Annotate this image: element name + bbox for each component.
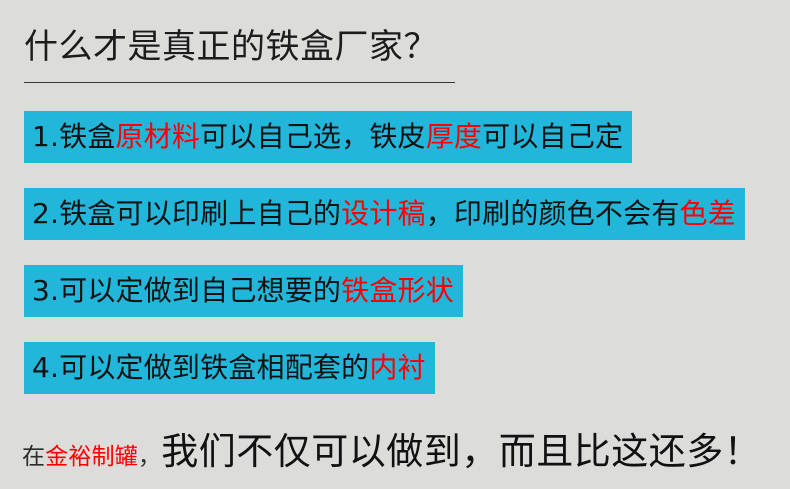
feature-1-segment-1: 1.铁盒 <box>32 120 116 153</box>
feature-4-segment-2: 内衬 <box>369 351 425 384</box>
feature-item-2: 2.铁盒可以印刷上自己的设计稿，印刷的颜色不会有色差 <box>24 188 745 240</box>
feature-2-segment-2: 设计稿 <box>341 197 426 230</box>
footer-brand-phrase: 在金裕制罐， <box>22 437 161 477</box>
feature-1-segment-3: 可以自己选，铁皮 <box>200 120 426 153</box>
title-divider <box>24 82 455 83</box>
feature-2-segment-1: 2.铁盒可以印刷上自己的 <box>32 197 341 230</box>
feature-4-segment-1: 4.可以定做到铁盒相配套的 <box>32 351 369 384</box>
feature-3-segment-1: 3.可以定做到自己想要的 <box>32 274 341 307</box>
feature-1-segment-2: 原材料 <box>116 120 201 153</box>
footer-tagline: 我们不仅可以做到，而且比这还多！ <box>161 430 761 474</box>
page-title: 什么才是真正的铁盒厂家？ <box>24 26 438 68</box>
page-title-block: 什么才是真正的铁盒厂家？ <box>24 26 438 68</box>
feature-3-segment-2: 铁盒形状 <box>341 274 454 307</box>
promo-banner: 什么才是真正的铁盒厂家？ 1.铁盒原材料可以自己选，铁皮厚度可以自己定 2.铁盒… <box>0 0 790 489</box>
footer-statement: 在金裕制罐， 我们不仅可以做到，而且比这还多！ <box>22 430 761 477</box>
feature-1-segment-4: 厚度 <box>426 120 482 153</box>
feature-2-segment-4: 色差 <box>680 197 736 230</box>
footer-prefix: 在 <box>22 444 45 470</box>
feature-item-3: 3.可以定做到自己想要的铁盒形状 <box>24 265 463 317</box>
feature-item-4: 4.可以定做到铁盒相配套的内衬 <box>24 342 435 394</box>
feature-list: 1.铁盒原材料可以自己选，铁皮厚度可以自己定 2.铁盒可以印刷上自己的设计稿，印… <box>24 111 745 394</box>
footer-brand-name: 金裕制罐 <box>45 444 138 470</box>
feature-item-1: 1.铁盒原材料可以自己选，铁皮厚度可以自己定 <box>24 111 632 163</box>
footer-separator: ， <box>138 444 161 470</box>
feature-1-segment-5: 可以自己定 <box>482 120 623 153</box>
feature-2-segment-3: ，印刷的颜色不会有 <box>426 197 680 230</box>
